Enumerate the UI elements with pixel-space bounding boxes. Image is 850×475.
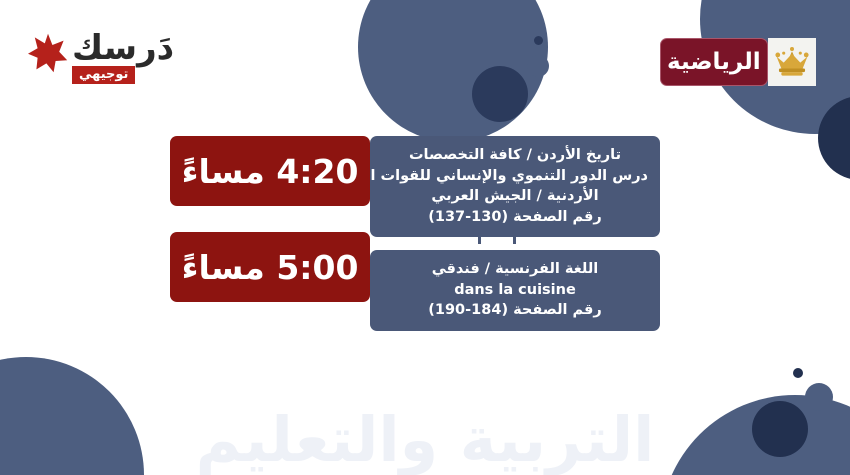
channel-crown-panel: [768, 38, 816, 86]
channel-logo: الرياضية: [660, 38, 800, 86]
royal-crown-icon: [773, 46, 811, 78]
card-divider: [370, 237, 660, 244]
schedule-container: 4:20 مساءً 5:00 مساءً تاريخ الأردن / كاف…: [170, 136, 722, 331]
lesson-card[interactable]: اللغة الفرنسية / فندقي dans la cuisine ر…: [370, 250, 660, 331]
lesson-page-number: رقم الصفحة (184-190): [382, 300, 648, 321]
decorative-dot-top-small: [534, 36, 543, 45]
channel-name: الرياضية: [660, 38, 768, 86]
jordan-star-icon: [28, 33, 68, 73]
decorative-circle-top-large: [358, 0, 548, 142]
lesson-line: تاريخ الأردن / كافة التخصصات: [382, 145, 648, 166]
decorative-dot-bottomright: [793, 368, 803, 378]
decorative-circle-top-navy: [472, 66, 528, 122]
lesson-line: الأردنية / الجيش العربي: [382, 186, 648, 207]
slide-canvas: التربية والتعليم دَرسك توجيهي الرياضية: [0, 0, 850, 475]
times-column: 4:20 مساءً 5:00 مساءً: [170, 136, 370, 331]
lesson-line: درس الدور التنموي والإنساني للقوات المسل…: [382, 166, 648, 187]
watermark-text: التربية والتعليم: [0, 409, 850, 471]
divider-tick: [478, 237, 481, 244]
lessons-column: تاريخ الأردن / كافة التخصصات درس الدور ا…: [370, 136, 660, 331]
lesson-line-latin: dans la cuisine: [382, 280, 648, 301]
lesson-line: اللغة الفرنسية / فندقي: [382, 259, 648, 280]
darsak-logo: دَرسك توجيهي: [28, 26, 188, 90]
decorative-circle-bottomright-small: [805, 383, 833, 411]
time-chip[interactable]: 4:20 مساءً: [170, 136, 370, 206]
lesson-page-number: رقم الصفحة (130-137): [382, 207, 648, 228]
decorative-dot-top-medium: [527, 55, 549, 77]
darsak-subtitle-badge: توجيهي: [72, 66, 135, 84]
time-chip[interactable]: 5:00 مساءً: [170, 232, 370, 302]
divider-tick: [513, 237, 516, 244]
lesson-card[interactable]: تاريخ الأردن / كافة التخصصات درس الدور ا…: [370, 136, 660, 237]
darsak-wordmark: دَرسك: [72, 32, 174, 64]
